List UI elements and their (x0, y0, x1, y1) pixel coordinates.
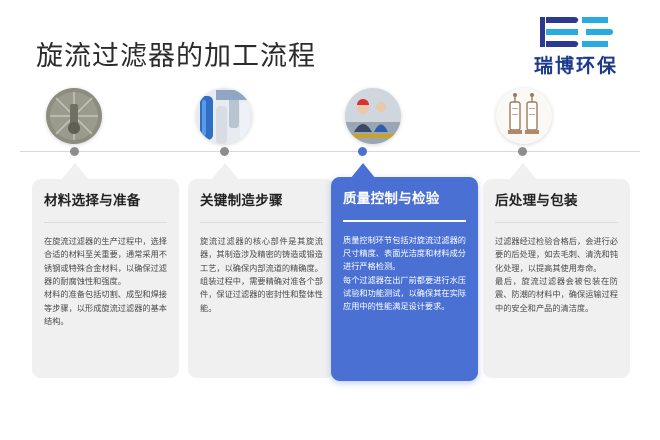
step-card-body: 旋流过滤器的核心部件是其旋流器，其制造涉及精密的铸造或锻造工艺，以确保内部流道的… (200, 235, 323, 315)
step-card-paragraph: 每个过滤器在出厂前都要进行水压试验和功能测试，以确保其在实际应用中的性能满足设计… (343, 274, 466, 314)
timeline-pointer-2 (212, 163, 238, 179)
page-title: 旋流过滤器的加工流程 (36, 34, 316, 73)
step-card-2[interactable]: 关键制造步骤旋流过滤器的核心部件是其旋流器，其制造涉及精密的铸造或锻造工艺，以确… (188, 179, 335, 378)
step-card-paragraph: 质量控制环节包括对旋流过滤器的尺寸精度、表面光洁度和材料成分进行严格检测。 (343, 234, 466, 274)
step-card-divider (343, 220, 466, 222)
step-card-body: 在旋流过滤器的生产过程中，选择合适的材料至关重要，通常采用不锈钢或特殊合金材料，… (44, 235, 167, 328)
ruibo-logo-mark-icon (530, 16, 622, 48)
step-card-title: 质量控制与检验 (343, 191, 466, 207)
step-card-body: 过滤器经过检验合格后，会进行必要的后处理，如去毛刺、清洗和钝化处理，以提高其使用… (495, 235, 618, 315)
step-card-title: 后处理与包装 (495, 193, 618, 209)
company-logo: 瑞博环保 (508, 16, 644, 82)
timeline-thumbnail-1[interactable] (46, 88, 102, 144)
timeline-dot-4[interactable] (518, 147, 527, 156)
step-card-paragraph: 过滤器经过检验合格后，会进行必要的后处理，如去毛刺、清洗和钝化处理，以提高其使用… (495, 235, 618, 275)
step-card-title: 材料选择与准备 (44, 193, 167, 209)
step-card-paragraph: 材料的准备包括切割、成型和焊接等步骤，以形成旋流过滤器的基本结构。 (44, 288, 167, 328)
step-card-paragraph: 旋流过滤器的核心部件是其旋流器，其制造涉及精密的铸造或锻造工艺，以确保内部流道的… (200, 235, 323, 275)
timeline-thumbnail-4[interactable] (496, 88, 552, 144)
timeline-thumbnail-2[interactable] (196, 88, 252, 144)
step-card-paragraph: 最后，旋流过滤器会被包装在防震、防潮的材料中，确保运输过程中的安全和产品的清洁度… (495, 275, 618, 315)
step-card-body: 质量控制环节包括对旋流过滤器的尺寸精度、表面光洁度和材料成分进行严格检测。每个过… (343, 234, 466, 314)
timeline-dot-3[interactable] (358, 147, 367, 156)
step-card-1[interactable]: 材料选择与准备在旋流过滤器的生产过程中，选择合适的材料至关重要，通常采用不锈钢或… (32, 179, 179, 378)
timeline-pointer-4 (510, 163, 536, 179)
timeline-dot-2[interactable] (220, 147, 229, 156)
step-card-paragraph: 组装过程中，需要精确对准各个部件，保证过滤器的密封性和整体性能。 (200, 275, 323, 315)
step-card-title: 关键制造步骤 (200, 193, 323, 209)
step-card-3[interactable]: 质量控制与检验质量控制环节包括对旋流过滤器的尺寸精度、表面光洁度和材料成分进行严… (331, 177, 478, 381)
step-card-divider (200, 222, 323, 223)
step-card-divider (495, 222, 618, 223)
timeline-thumbnail-3[interactable] (345, 88, 401, 144)
step-card-4[interactable]: 后处理与包装过滤器经过检验合格后，会进行必要的后处理，如去毛刺、清洗和钝化处理，… (483, 179, 630, 378)
timeline-dot-1[interactable] (70, 147, 79, 156)
timeline-pointer-1 (62, 163, 88, 179)
timeline-axis (20, 151, 640, 152)
step-card-paragraph: 在旋流过滤器的生产过程中，选择合适的材料至关重要，通常采用不锈钢或特殊合金材料，… (44, 235, 167, 288)
company-name: 瑞博环保 (534, 51, 618, 78)
slide-root: 旋流过滤器的加工流程 瑞博环保 材料选择与准备在旋流过滤器的生产过程中，选择合适… (0, 0, 660, 440)
step-card-divider (44, 222, 167, 223)
